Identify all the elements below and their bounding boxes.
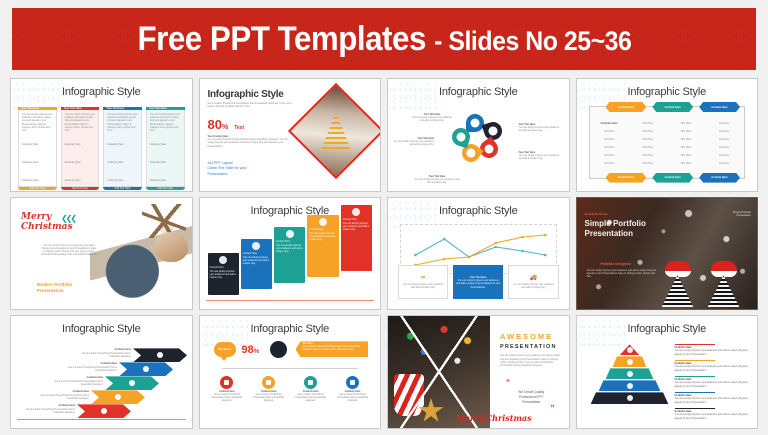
slide-heading: Simple Portfolio Presentation [585, 219, 646, 239]
legend-body: You can simply impress your audience and… [675, 349, 752, 356]
layer-icon [627, 383, 633, 389]
block-item[interactable]: Content Here You can simply impress your… [241, 239, 272, 295]
step-body: Get a modern PowerPoint Presentation tha… [61, 366, 117, 372]
legend-row: Contents Here You can simply impress you… [675, 392, 752, 404]
table-bottom-headers: Content Here Content Here Content Here [606, 173, 741, 183]
cta-line-1: Modern Portfolio [37, 282, 72, 287]
table-column: Text Here Text Here Text Here Text Here … [631, 119, 664, 168]
card-row: ➦ You can simply impress your audience a… [398, 265, 559, 299]
christmas-tree-with-hat-icon [707, 261, 741, 307]
divider-label: Portfolio Designed [601, 262, 631, 266]
step-callout: Contents Here Get a modern PowerPoint Pr… [75, 348, 131, 358]
table-cell: Text Here [719, 122, 730, 125]
body-text: You can simply impress your audience and… [41, 244, 97, 257]
script-line-1: Merry [21, 212, 51, 222]
block-item[interactable]: Content Here You can simply impress your… [341, 205, 372, 295]
block-item[interactable]: Content Here You can simply impress your… [274, 227, 305, 295]
petal-callout: Your Text Here You can simply impress yo… [519, 123, 563, 133]
santa-hat-icon [711, 261, 737, 277]
template-gallery-page: Free PPT Templates - Slides No 25~36 Inf… [0, 0, 768, 435]
cta-block: Modern Portfolio Presentation [37, 282, 72, 295]
table-top-headers: Content Here Content Here Content Here [606, 102, 741, 112]
table-cell: Text Here [681, 154, 692, 157]
table-column: Contents Here Text Here Text Here Text H… [593, 119, 626, 168]
pyramid-layer[interactable] [599, 380, 661, 391]
table-cell: Text Here [642, 162, 653, 165]
heading-awesome: AWESOME [500, 332, 553, 341]
layer-icon [627, 359, 633, 365]
table-column: Text Here Text Here Text Here Text Here … [669, 119, 702, 168]
step-callout: Contents Here Get a modern PowerPoint Pr… [61, 362, 117, 372]
legend-body: You can simply impress your audience and… [675, 365, 752, 372]
petal-icon [471, 119, 480, 128]
block-body: You can simply impress your audience and… [210, 270, 237, 280]
bullet-item: Contents_Here [22, 143, 38, 146]
card-body: You can simply impress your audience and… [456, 279, 500, 289]
legend-body: You can simply impress your audience and… [675, 381, 752, 388]
quote-open-icon: “ [506, 380, 510, 386]
merry-christmas-script: Merry Christmas [456, 413, 532, 423]
baseline-divider [206, 300, 375, 301]
legend-rule [675, 408, 715, 409]
table-footer-label: Content Here [711, 176, 727, 179]
christmas-photo-collage [388, 316, 490, 428]
heading-line-2: Presentation [585, 229, 633, 238]
cursor-icon: ➦ [421, 275, 426, 282]
eyebrow-text: Simple Portfolio [585, 212, 608, 216]
node-body: Get a modern PowerPoint Presentation tha… [249, 394, 288, 403]
callout-banner[interactable]: Text Here Get a modern PowerPoint Presen… [296, 341, 369, 357]
node-icon [304, 376, 317, 389]
slide-thumbnail-5[interactable]: Merry Christmas ❮❮❮ You can simply impre… [10, 197, 193, 311]
block-face: Content Here You can simply impress your… [208, 253, 239, 295]
candy-cup-photo [394, 374, 424, 416]
column-footer[interactable]: Add Text Here [18, 187, 57, 190]
petal-callout: Your Text Here You can simply impress yo… [410, 113, 454, 123]
heading-line-1: Simple Portfolio [585, 219, 646, 228]
node-row: Contents Here Get a modern PowerPoint Pr… [208, 376, 373, 420]
percent-number: 80 [208, 117, 222, 132]
table-cell: Text Here [642, 146, 653, 149]
column-body-text: You can simply impress your audience and… [65, 113, 96, 132]
table-cell: Text Here [719, 162, 730, 165]
percent-value: 80%Text [208, 117, 245, 132]
block-body: You can simply impress your audience and… [343, 222, 370, 232]
series-line-teal [415, 239, 545, 257]
bullet-item: Contents_Here [107, 143, 123, 146]
staircase-step[interactable] [119, 362, 173, 376]
baseline-divider [17, 419, 186, 420]
legend-rule [675, 376, 715, 377]
christmas-tree-icon [321, 112, 351, 150]
table-cell: Text Here [719, 138, 730, 141]
slide-thumbnail-4[interactable]: Infographic Style Content Here Content H… [576, 78, 759, 192]
column-footer[interactable]: Add Text Here [103, 187, 142, 190]
pyramid-legend: Contents Here You can simply impress you… [675, 344, 752, 420]
layer-icon [627, 395, 633, 401]
table-cell: Text Here [642, 138, 653, 141]
pinwheel-diagram [450, 114, 506, 164]
table-header-label: Content Here [665, 106, 681, 109]
arrow-header: Your Text Here [18, 107, 57, 110]
pinwheel-petal[interactable] [466, 114, 484, 132]
slide-subtitle: Get a modern PowerPoint Presentation tha… [208, 102, 294, 108]
step-icon [129, 380, 135, 386]
cta-text: ALLPPT Layout Clean Text Slide for your … [208, 161, 247, 177]
arrow-header: Your Text Here [61, 107, 100, 110]
body-text-block: You can simply impress your audience and… [500, 354, 561, 367]
step-callout: Contents Here Get a modern PowerPoint Pr… [33, 390, 89, 400]
block-body: You can simply impress your audience and… [309, 232, 336, 242]
percent-number: 98 [242, 344, 254, 356]
step-icon [115, 394, 121, 400]
table-cell: Text Here [681, 122, 692, 125]
table-cell: Text Here [604, 146, 615, 149]
legend-rule [675, 392, 715, 393]
table-footer-cell[interactable]: Content Here [699, 173, 740, 183]
slide-thumbnail-3[interactable]: Infographic Style Your Text Here You can… [387, 78, 570, 192]
slide-thumbnail-11[interactable]: AWESOME PRESENTATION You can simply impr… [387, 315, 570, 429]
slide-title: Infographic Style [577, 86, 758, 98]
node-item[interactable]: Contents Here Get a modern PowerPoint Pr… [249, 376, 288, 420]
bullet-item: Contents_Here [65, 143, 81, 146]
block-icon [352, 208, 360, 216]
staircase-step[interactable] [133, 348, 187, 362]
arrow-column-group: Your Text Here You can simply impress yo… [18, 107, 185, 181]
bullet-item: Contents_Here [65, 179, 81, 182]
callout-body: Get a modern PowerPoint Presentation tha… [303, 346, 366, 352]
body-text-block: You can simply impress your audience and… [41, 244, 97, 257]
body-text: You can simply impress your audience and… [500, 354, 561, 367]
pyramid-diagram [591, 344, 669, 406]
page-title-main: Free PPT Templates [137, 20, 425, 58]
table-cell: Text Here [604, 162, 615, 165]
column-footer[interactable]: Add Text Here [61, 187, 100, 190]
legend-row: Contents Here You can simply impress you… [675, 344, 752, 356]
bullet-item: Contents_Here [150, 179, 166, 182]
petal-icon [483, 143, 496, 156]
arrow-column[interactable]: Your Text Here You can simply impress yo… [146, 107, 185, 181]
reindeer-photo [90, 206, 193, 302]
arrow-header-label: Your Text Here [21, 107, 39, 110]
table-cell: Text Here [642, 122, 653, 125]
table-header-label: Content Here [711, 106, 727, 109]
step-body: Get a modern PowerPoint Presentation tha… [47, 380, 103, 386]
petal-body: You can simply impress your audience and… [519, 126, 563, 132]
block-icon [319, 218, 327, 226]
pyramid-layer[interactable] [620, 344, 640, 355]
petal-icon [465, 147, 478, 160]
tree-body [662, 275, 694, 307]
christmas-tree-with-hat-icon [661, 261, 695, 307]
node-item[interactable]: Contents Here Get a modern PowerPoint Pr… [208, 376, 247, 420]
bullet-item: Contents_Here [107, 161, 123, 164]
diamond-photo-frame [288, 83, 381, 179]
series-line-orange [415, 235, 545, 265]
table-cell: Text Here [681, 146, 692, 149]
petal-icon [456, 132, 467, 143]
column-body: You can simply impress your audience and… [103, 110, 142, 187]
table-footer-label: Content Here [618, 176, 634, 179]
table-header-cell[interactable]: Content Here [606, 102, 647, 112]
arrow-column[interactable]: Your Text Here You can simply impress yo… [61, 107, 100, 181]
column-footer-label: Add Text Here [115, 187, 131, 190]
info-card[interactable]: ➦ You can simply impress your audience a… [398, 265, 448, 299]
page-title-sub: - Slides No 25~36 [434, 26, 631, 56]
petal-callout: Your Text Here You can simply impress yo… [414, 175, 460, 185]
slide-thumbnail-10[interactable]: Infographic Style Text Here! 98% Text He… [199, 315, 382, 429]
staircase-step[interactable] [77, 404, 131, 418]
block-icon [252, 242, 260, 250]
legend-rule [675, 344, 715, 345]
sleigh-icon: ❮❮❮ [61, 214, 75, 223]
step-icon [157, 352, 163, 358]
bullet-item: Contents_Here [150, 161, 166, 164]
petal-body: You can simply impress your audience and… [410, 116, 454, 122]
comparison-table: Content Here Content Here Content Here C… [589, 106, 746, 179]
petal-body: You can simply impress your audience and… [414, 178, 460, 184]
bullet-item: Contents_Here [22, 161, 38, 164]
table-footer-cell[interactable]: Content Here [606, 173, 647, 183]
content-block: Your Content Here Get a modern PowerPoin… [208, 135, 294, 148]
script-line-2: Christmas [21, 222, 73, 232]
bullet-item: Contents_Here [150, 143, 166, 146]
slide-title: Infographic Style [577, 323, 758, 335]
card-body: You can simply impress your audience and… [401, 283, 445, 289]
table-cell: Text Here [681, 130, 692, 133]
slide-title: Infographic Style [208, 89, 284, 100]
table-cell: Text Here [719, 130, 730, 133]
node-item[interactable]: Contents Here Get a modern PowerPoint Pr… [333, 376, 372, 420]
legend-row: Contents Here You can simply impress you… [675, 376, 752, 388]
badge-icon [270, 341, 287, 358]
layer-icon [627, 371, 633, 377]
speech-bubble[interactable]: Text Here! [214, 342, 236, 357]
bullet-item: Contents_Here [22, 179, 38, 182]
column-body-text: You can simply impress your audience and… [107, 113, 138, 132]
arrow-column[interactable]: Your Text Here You can simply impress yo… [18, 107, 57, 181]
heading-presentation: PRESENTATION [500, 344, 557, 350]
table-cell: Text Here [681, 138, 692, 141]
block-face: Content Here You can simply impress your… [341, 205, 372, 271]
block-face: Content Here You can simply impress your… [274, 227, 305, 283]
column-footer-label: Add Text Here [72, 187, 88, 190]
card-body: You can simply impress your audience and… [511, 283, 555, 289]
info-card[interactable]: 🚚 You can simply impress your audience a… [508, 265, 558, 299]
table-column: Text Here Text Here Text Here Text Here … [708, 119, 741, 168]
column-footer-label: Add Text Here [157, 187, 173, 190]
slide-thumbnail-8[interactable]: Simple Portfolio Simple Portfolio Presen… [576, 197, 759, 311]
legend-body: You can simply impress your audience and… [675, 413, 752, 420]
block-body: You can simply impress your audience and… [276, 244, 303, 254]
node-icon [262, 376, 275, 389]
arrow-header-label: Your Text Here [149, 107, 167, 110]
table-cell: Text Here [604, 154, 615, 157]
slide-thumbnail-1[interactable]: Infographic Style Your Text Here You can… [10, 78, 193, 192]
arrow-header: Your Text Here [103, 107, 142, 110]
block-item[interactable]: Content Here You can simply impress your… [307, 215, 338, 295]
slide-title: Infographic Style [200, 323, 381, 335]
column-body-text: You can simply impress your audience and… [22, 113, 53, 132]
arrow-column[interactable]: Your Text Here You can simply impress yo… [103, 107, 142, 181]
table-cell: Text Here [642, 130, 653, 133]
table-cell: Text Here [604, 138, 615, 141]
column-footer[interactable]: Add Text Here [146, 187, 185, 190]
pyramid-layer[interactable] [606, 368, 654, 379]
slide-title: Infographic Style [388, 86, 569, 98]
column-body: You can simply impress your audience and… [146, 110, 185, 187]
petal-callout: Your Text Here You can simply impress yo… [392, 137, 434, 147]
table-cell: Text Here [719, 154, 730, 157]
legend-row: Contents Here You can simply impress you… [675, 360, 752, 372]
step-icon [143, 366, 149, 372]
step-body: Get a modern PowerPoint Presentation tha… [19, 408, 75, 414]
staircase-step[interactable] [105, 376, 159, 390]
table-cell: Text Here [719, 146, 730, 149]
block-face: Content Here You can simply impress your… [241, 239, 272, 289]
column-footer-label: Add Text Here [29, 187, 45, 190]
step-body: Get a modern PowerPoint Presentation tha… [75, 352, 131, 358]
slide-title: Infographic Style [388, 205, 569, 217]
column-body: You can simply impress your audience and… [61, 110, 100, 187]
staircase-diagram: Contents Here Get a modern PowerPoint Pr… [19, 342, 184, 412]
step-icon [101, 408, 107, 414]
block-icon [219, 256, 227, 264]
arrow-header-label: Your Text Here [64, 107, 82, 110]
percent-symbol: % [254, 349, 259, 355]
node-icon [346, 376, 359, 389]
tree-body [708, 275, 740, 307]
slide-title: Infographic Style [11, 86, 192, 98]
layer-icon [627, 347, 633, 353]
slide-thumbnail-12[interactable]: Infographic Style Contents Here You can … [576, 315, 759, 429]
column-body: You can simply impress your audience and… [18, 110, 57, 187]
pyramid-layer[interactable] [613, 356, 647, 367]
table-header-cell[interactable]: Content Here [699, 102, 740, 112]
node-icon [220, 376, 233, 389]
quote-close-icon: ” [551, 406, 555, 412]
legend-row: Contents Here You can simply impress you… [675, 408, 752, 420]
table-cell: Text Here [642, 154, 653, 157]
slide-thumbnail-6[interactable]: Infographic Style Content Here You can s… [199, 197, 382, 311]
table-header-cell[interactable]: Content Here [652, 102, 693, 112]
page-title: Free PPT Templates - Slides No 25~36 [137, 22, 631, 56]
node-item[interactable]: Contents Here Get a modern PowerPoint Pr… [291, 376, 330, 420]
corner-text: Simple Portfolio Presentation [733, 211, 751, 218]
petal-icon [488, 126, 499, 137]
petal-callout: Your Text Here You can simply impress yo… [519, 151, 563, 161]
table-cell: Text Here [681, 162, 692, 165]
slide-title: Infographic Style [11, 323, 192, 335]
slide-thumbnail-9[interactable]: Infographic Style Contents Here Get a mo… [10, 315, 193, 429]
legend-rule [675, 360, 715, 361]
bullet-item: Contents_Here [65, 161, 81, 164]
body-text: You can simply impress your audience and… [587, 269, 659, 279]
column-body-text: You can simply impress your audience and… [150, 113, 181, 132]
node-body: Get a modern PowerPoint Presentation tha… [208, 394, 247, 403]
table-header-label: Content Here [618, 106, 634, 109]
santa-hat-icon [665, 261, 691, 277]
block-body: You can simply impress your audience and… [243, 256, 270, 266]
table-cell: Text Here [604, 130, 615, 133]
page-header-banner: Free PPT Templates - Slides No 25~36 [12, 8, 756, 70]
pyramid-layer[interactable] [591, 392, 669, 404]
petal-body: You can simply impress your audience and… [392, 140, 434, 146]
content-block-body: Get a modern PowerPoint Presentation tha… [208, 138, 294, 148]
slide-thumbnail-7[interactable]: Infographic Style ➦ You can simply impre… [387, 197, 570, 311]
table-body: Contents Here Text Here Text Here Text H… [593, 119, 742, 168]
bullet-item: Contents_Here [107, 179, 123, 182]
block-face: Content Here You can simply impress your… [307, 215, 338, 277]
staircase-step[interactable] [91, 390, 145, 404]
info-card-highlighted[interactable]: Your Text Here You can simply impress yo… [453, 265, 503, 299]
speech-bubble-label: Text Here! [218, 348, 231, 352]
step-body: Get a modern PowerPoint Presentation tha… [33, 394, 89, 400]
table-footer-label: Content Here [665, 176, 681, 179]
node-body: Get a modern PowerPoint Presentation tha… [291, 394, 330, 403]
arrow-header: Your Text Here [146, 107, 185, 110]
slide-thumbnail-grid: Infographic Style Your Text Here You can… [8, 78, 760, 429]
block-item[interactable]: Content Here You can simply impress your… [208, 253, 239, 295]
block-icon [286, 230, 294, 238]
percent-label: Text [234, 125, 244, 131]
legend-body: You can simply impress your audience and… [675, 397, 752, 404]
petal-body: You can simply impress your audience and… [519, 154, 563, 160]
step-callout: Contents Here Get a modern PowerPoint Pr… [47, 376, 103, 386]
table-corner-header: Contents Here [601, 122, 618, 125]
quote-text: We Create Quality Professional PPT Prese… [508, 390, 555, 404]
node-body: Get a modern PowerPoint Presentation tha… [333, 394, 372, 403]
cta-line-2: Presentation [37, 288, 64, 293]
slide-thumbnail-2[interactable]: Infographic Style Get a modern PowerPoin… [199, 78, 382, 192]
block-chart-3d: Content Here You can simply impress your… [208, 226, 373, 296]
truck-icon: 🚚 [530, 275, 537, 282]
percent-symbol: % [222, 124, 228, 131]
percent-value: 98% [242, 344, 260, 356]
step-callout: Contents Here Get a modern PowerPoint Pr… [19, 404, 75, 414]
arrow-header-label: Your Text Here [106, 107, 124, 110]
table-footer-cell[interactable]: Content Here [652, 173, 693, 183]
subtitle-text: Get a modern PowerPoint Presentation tha… [208, 102, 294, 108]
